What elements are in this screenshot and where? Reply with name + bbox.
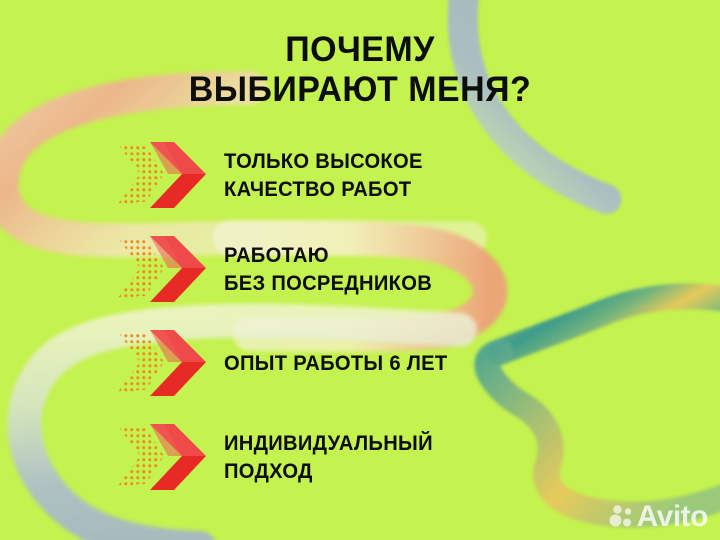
poster-title: ПОЧЕМУ ВЫБИРАЮТ МЕНЯ? (0, 30, 720, 110)
avito-dots-logo-icon (608, 504, 634, 530)
title-line-1: ПОЧЕМУ (11, 30, 709, 70)
avito-watermark: Avito (608, 502, 708, 532)
feature-item-quality: ТОЛЬКО ВЫСОКОЕ КАЧЕСТВО РАБОТ (112, 140, 632, 212)
poster-canvas: ПОЧЕМУ ВЫБИРАЮТ МЕНЯ? ТОЛЬКО ВЫСОКОЕ КАЧ… (0, 0, 720, 540)
feature-label: РАБОТАЮ БЕЗ ПОСРЕДНИКОВ (224, 242, 432, 298)
double-chevron-right-icon (112, 328, 212, 400)
feature-label: ИНДИВИДУАЛЬНЫЙ ПОДХОД (224, 430, 433, 486)
title-line-2: ВЫБИРАЮТ МЕНЯ? (11, 70, 709, 110)
feature-item-individual-approach: ИНДИВИДУАЛЬНЫЙ ПОДХОД (112, 422, 632, 494)
double-chevron-right-icon (112, 234, 212, 306)
avito-wordmark: Avito (637, 502, 708, 532)
feature-label: ОПЫТ РАБОТЫ 6 ЛЕТ (224, 350, 448, 378)
feature-label: ТОЛЬКО ВЫСОКОЕ КАЧЕСТВО РАБОТ (224, 148, 423, 204)
feature-list: ТОЛЬКО ВЫСОКОЕ КАЧЕСТВО РАБОТ РАБОТАЮ БЕ… (112, 140, 632, 494)
double-chevron-right-icon (112, 422, 212, 494)
double-chevron-right-icon (112, 140, 212, 212)
feature-item-experience: ОПЫТ РАБОТЫ 6 ЛЕТ (112, 328, 632, 400)
feature-item-no-intermediaries: РАБОТАЮ БЕЗ ПОСРЕДНИКОВ (112, 234, 632, 306)
